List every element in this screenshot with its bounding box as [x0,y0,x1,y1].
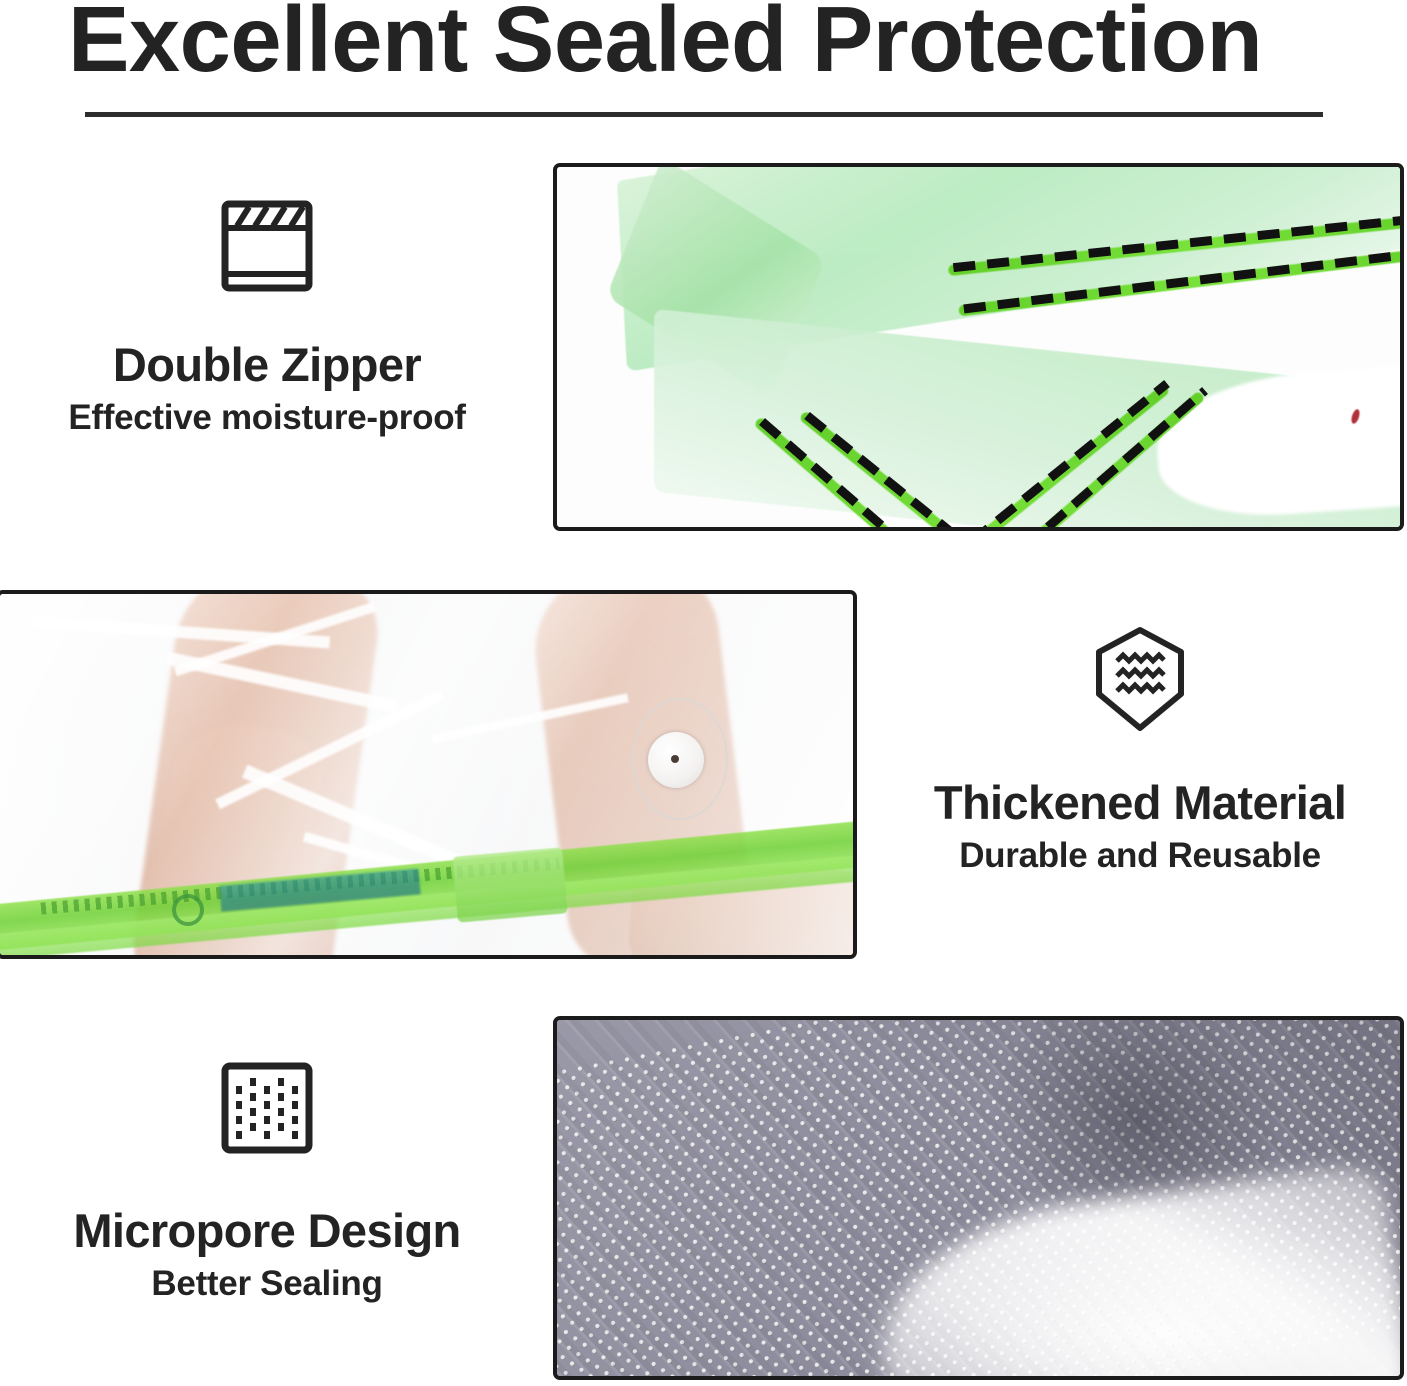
feature-title: Micropore Design [0,1206,534,1257]
air-valve-hole [671,755,679,763]
feature-subtitle: Better Sealing [0,1265,534,1304]
bag-stretch-durability-photo [0,590,857,959]
feature-subtitle: Effective moisture-proof [0,399,534,438]
page-title: Excellent Sealed Protection [68,0,1262,93]
micropore-vignette [557,1020,1400,1376]
feature-title: Double Zipper [0,340,534,391]
shield-waves-icon [1090,624,1190,734]
feature-title: Thickened Material [873,778,1407,829]
title-divider-rule [85,112,1323,117]
photo-content [557,167,1400,527]
double-zipper-closeup-photo [553,163,1404,531]
feature-subtitle: Durable and Reusable [873,837,1407,876]
photo-content [557,1020,1400,1376]
feature-thickened-material: Thickened Material Durable and Reusable [873,624,1407,875]
zipper-square-icon [217,196,317,296]
page-header: Excellent Sealed Protection [0,0,1407,130]
micropore-square-icon [217,1058,317,1158]
micropore-texture-photo [553,1016,1404,1380]
feature-double-zipper: Double Zipper Effective moisture-proof [0,196,534,437]
zipper-slider [452,847,567,922]
photo-content [0,594,853,955]
feature-micropore-design: Micropore Design Better Sealing [0,1058,534,1303]
